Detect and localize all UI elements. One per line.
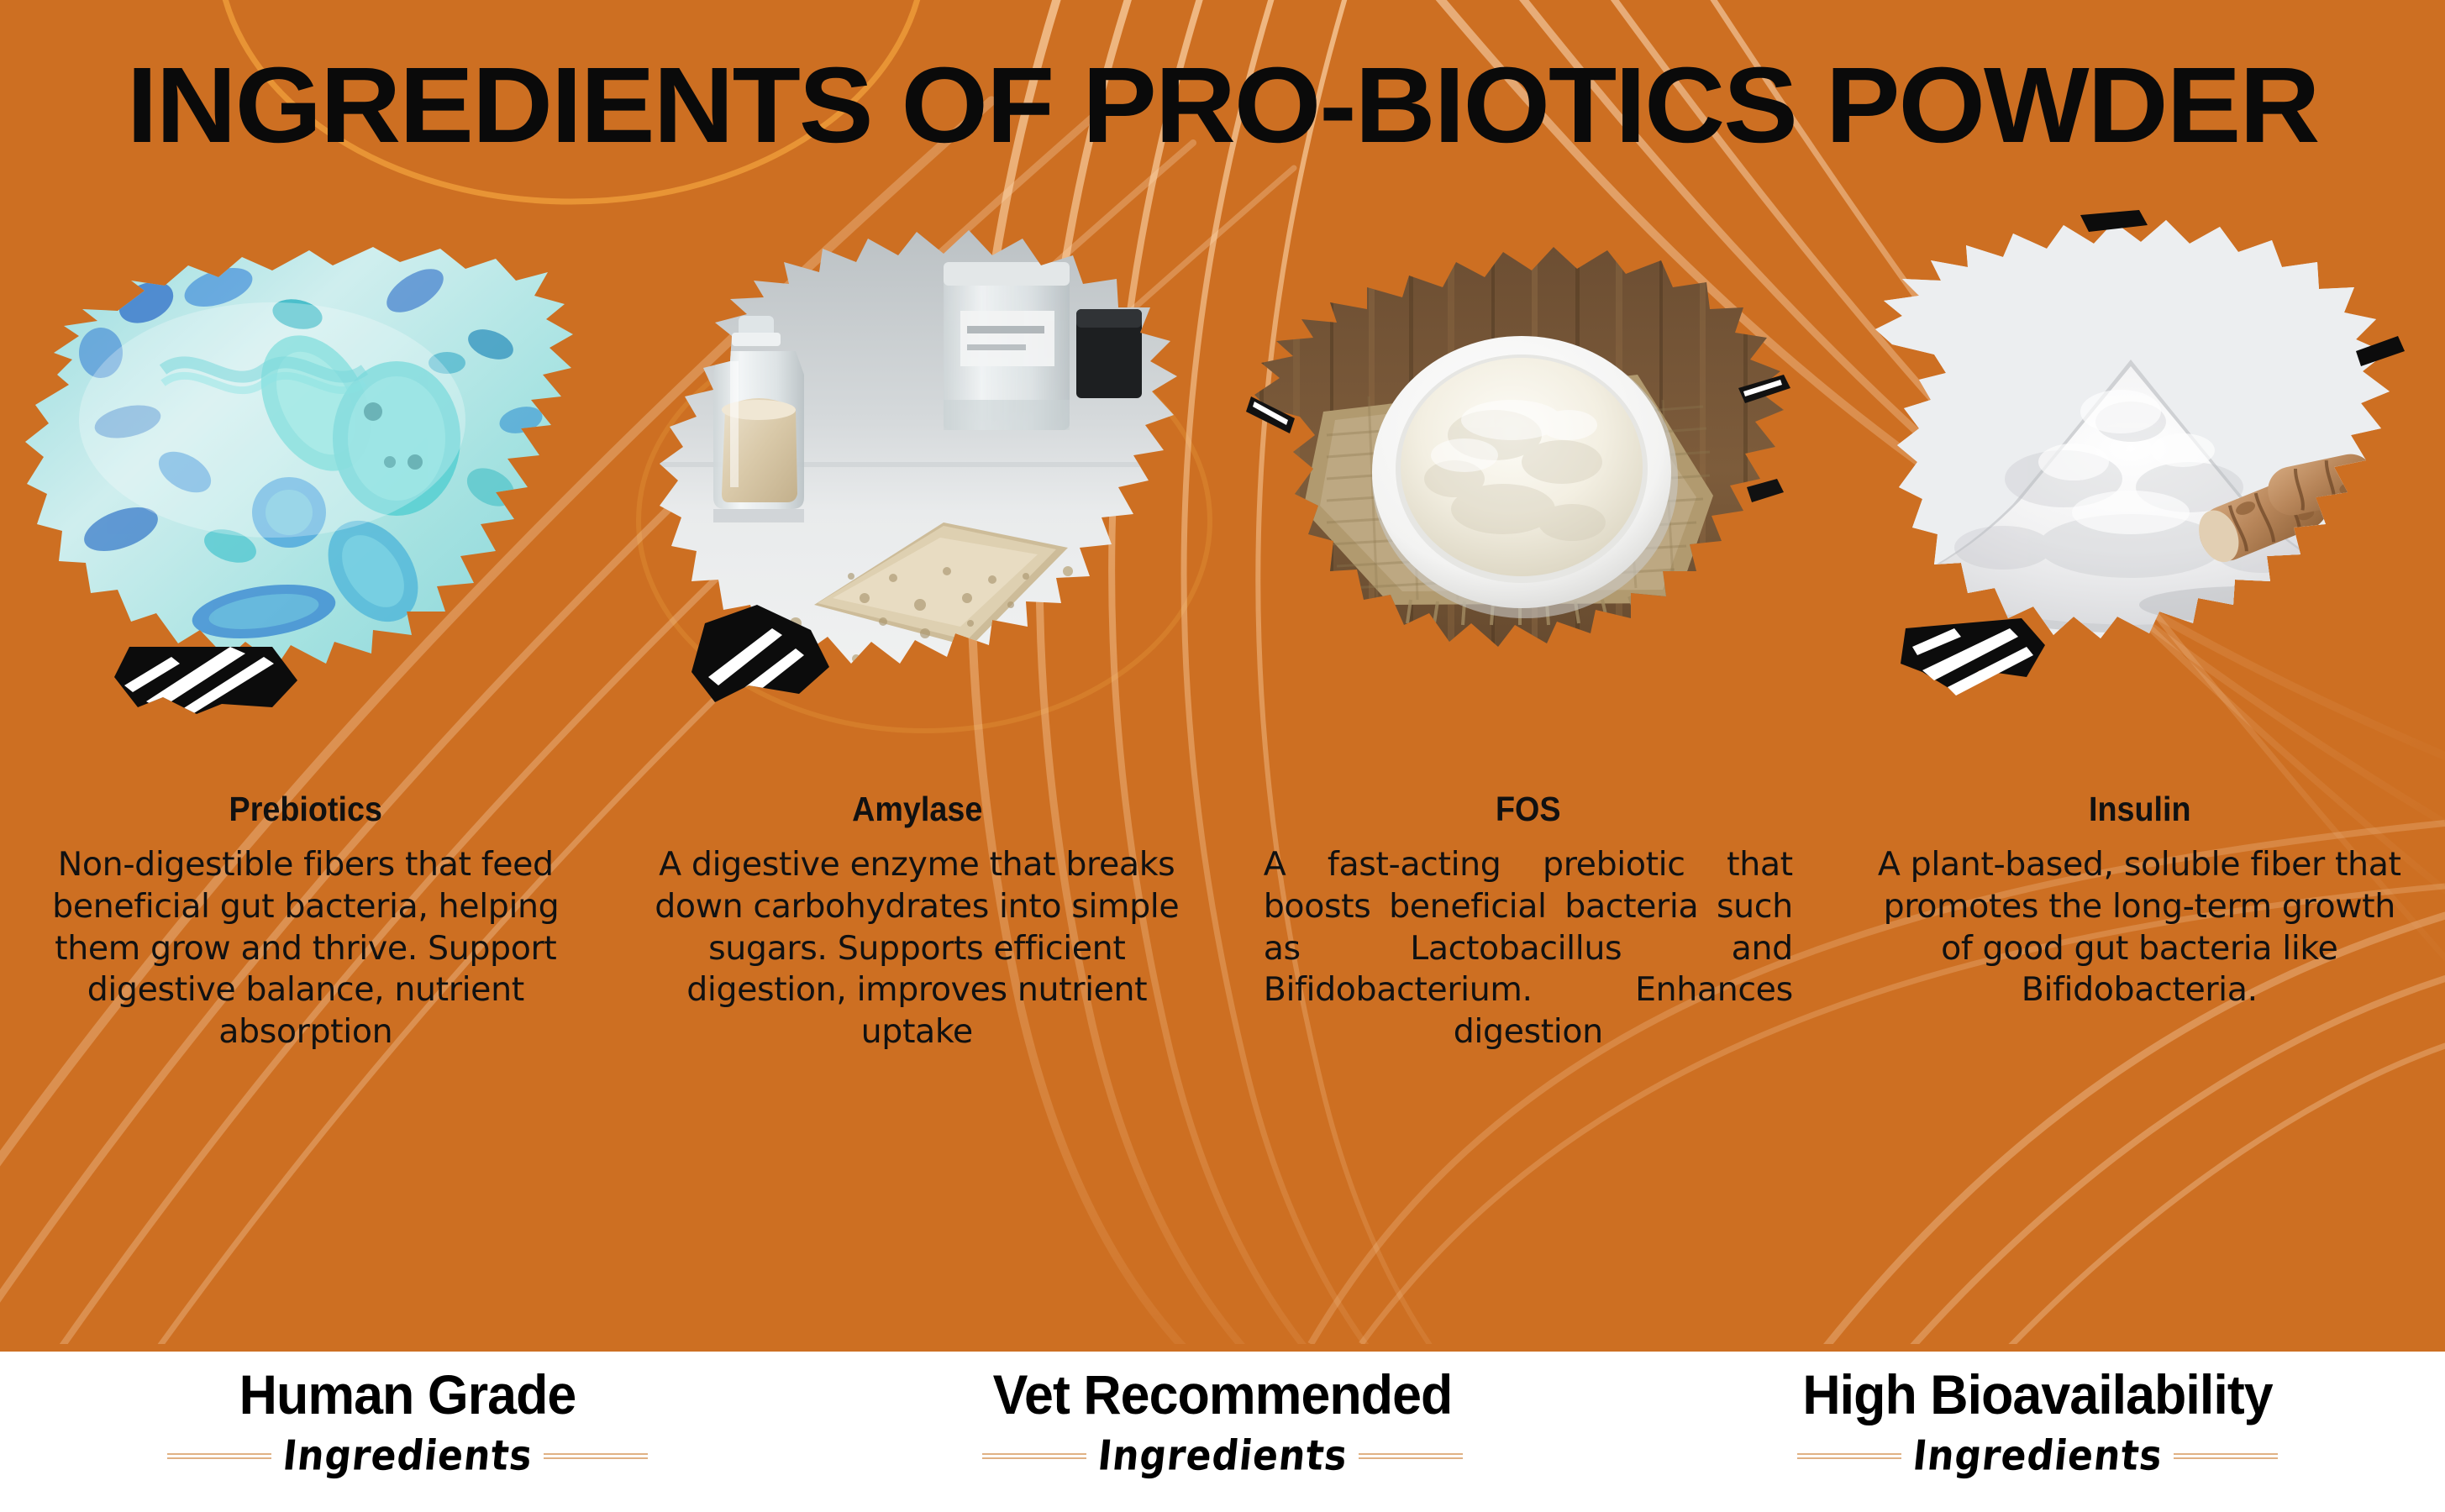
footer-subtitle: Ingredients bbox=[281, 1432, 535, 1480]
ingredient-description: A plant-based, soluble fiber that promot… bbox=[1870, 844, 2408, 1011]
ingredient-description: A fast-acting prebiotic that boosts bene… bbox=[1264, 844, 1793, 1053]
insulin-photo bbox=[1853, 210, 2425, 731]
ingredient-name: Amylase bbox=[636, 790, 1198, 829]
infographic-poster: INGREDIENTS OF PRO-BIOTICS POWDER bbox=[0, 0, 2445, 1512]
ingredient-name: FOS bbox=[1247, 790, 1809, 829]
ingredient-description: A digestive enzyme that breaks down carb… bbox=[648, 844, 1186, 1053]
footer-title: Human Grade bbox=[20, 1362, 795, 1426]
footer-subtitle-row: Ingredients bbox=[0, 1435, 815, 1478]
orange-background-panel: INGREDIENTS OF PRO-BIOTICS POWDER bbox=[0, 0, 2445, 1344]
footer-rule-left bbox=[1797, 1453, 1901, 1459]
footer-subtitle: Ingredients bbox=[1096, 1432, 1350, 1480]
footer-rule-right bbox=[1359, 1453, 1463, 1459]
ingredient-name: Insulin bbox=[1859, 790, 2421, 829]
footer-item-vet-recommended: Vet Recommended Ingredients bbox=[815, 1344, 1630, 1512]
footer-title: High Bioavailability bbox=[1650, 1362, 2425, 1426]
footer-rule-right bbox=[544, 1453, 648, 1459]
footer-subtitle: Ingredients bbox=[1911, 1432, 2165, 1480]
ingredient-columns: Prebiotics Non-digestible fibers that fe… bbox=[0, 210, 2445, 1151]
prebiotics-photo bbox=[20, 210, 592, 731]
footer-subtitle-row: Ingredients bbox=[1630, 1435, 2445, 1478]
amylase-photo bbox=[631, 210, 1202, 731]
footer-title: Vet Recommended bbox=[835, 1362, 1610, 1426]
footer-item-high-bioavailability: High Bioavailability Ingredients bbox=[1630, 1344, 2445, 1512]
footer-item-human-grade: Human Grade Ingredients bbox=[0, 1344, 815, 1512]
ingredient-card-prebiotics: Prebiotics Non-digestible fibers that fe… bbox=[0, 210, 612, 1151]
footer-subtitle-row: Ingredients bbox=[815, 1435, 1630, 1478]
fos-photo bbox=[1243, 210, 1814, 731]
ingredient-description: Non-digestible fibers that feed benefici… bbox=[37, 844, 575, 1053]
ingredient-card-insulin: Insulin A plant-based, soluble fiber tha… bbox=[1834, 210, 2445, 1151]
footer-rule-left bbox=[167, 1453, 271, 1459]
footer-bar: Human Grade Ingredients Vet Recommended … bbox=[0, 1344, 2445, 1512]
footer-rule-left bbox=[982, 1453, 1086, 1459]
ingredient-name: Prebiotics bbox=[24, 790, 586, 829]
ingredient-card-fos: FOS A fast-acting prebiotic that boosts … bbox=[1222, 210, 1834, 1151]
ingredient-card-amylase: Amylase A digestive enzyme that breaks d… bbox=[612, 210, 1223, 1151]
page-title: INGREDIENTS OF PRO-BIOTICS POWDER bbox=[0, 44, 2445, 167]
footer-rule-right bbox=[2174, 1453, 2278, 1459]
